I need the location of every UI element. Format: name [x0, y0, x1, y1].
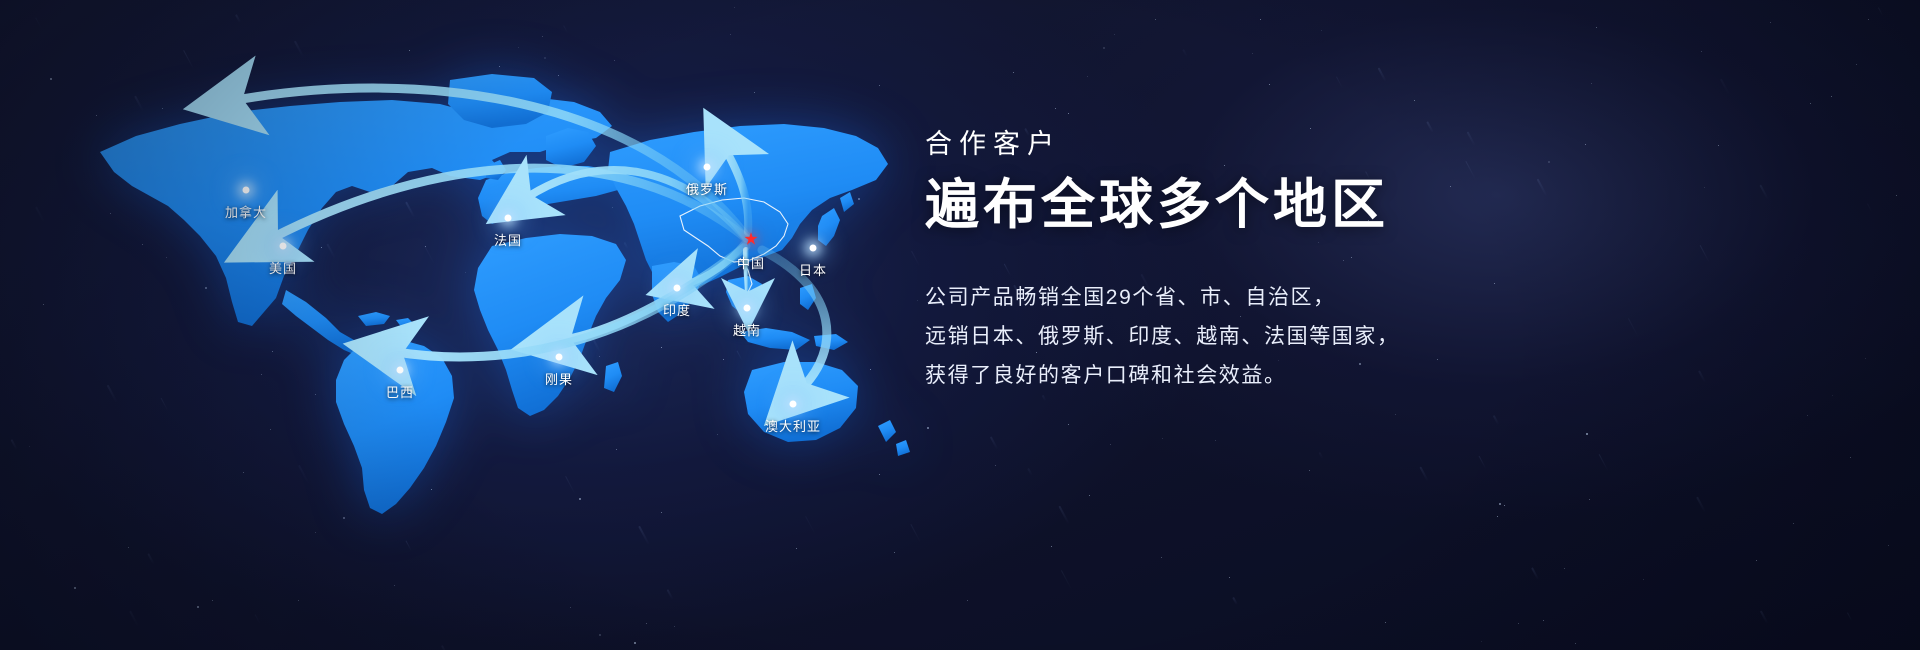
star-speck: [1087, 76, 1088, 77]
headline-text: 遍布全球多个地区: [925, 174, 1805, 236]
star-speck: [1395, 414, 1396, 415]
star-speck: [1499, 503, 1501, 505]
star-speck: [1810, 103, 1811, 104]
star-speck: [1321, 30, 1322, 31]
map-marker-label-russia: 俄罗斯: [686, 179, 728, 198]
star-streak: [1720, 79, 1730, 96]
star-speck: [1831, 96, 1832, 97]
star-speck: [1110, 444, 1111, 445]
star-speck: [1068, 113, 1069, 114]
star-speck: [1868, 19, 1869, 20]
star-speck: [734, 7, 735, 8]
star-streak: [1878, 7, 1883, 15]
star-speck: [1051, 546, 1052, 547]
star-speck: [1055, 108, 1056, 109]
star-streak: [1867, 204, 1872, 213]
star-speck: [1089, 495, 1090, 496]
star-speck: [1518, 623, 1519, 624]
star-speck: [1896, 195, 1897, 196]
marker-dot-icon: [397, 367, 404, 374]
star-speck: [1850, 457, 1851, 458]
marker-dot-icon: [810, 245, 817, 252]
map-marker-label-canada: 加拿大: [225, 202, 267, 221]
star-speck: [1586, 433, 1588, 435]
star-icon: ★: [743, 231, 758, 248]
star-speck: [1756, 560, 1757, 561]
star-streak: [235, 14, 241, 23]
star-streak: [1847, 612, 1852, 621]
star-streak: [1493, 415, 1499, 425]
map-marker-label-brazil: 巴西: [386, 382, 414, 401]
star-speck: [1103, 47, 1105, 49]
star-speck: [1155, 19, 1156, 20]
star-streak: [255, 614, 261, 623]
description-line-1: 公司产品畅销全国29个省、市、自治区，: [925, 278, 1805, 317]
star-speck: [1252, 53, 1253, 54]
star-speck: [1543, 620, 1544, 621]
map-marker-label-france: 法国: [494, 230, 522, 249]
star-streak: [1479, 455, 1487, 469]
star-speck: [1013, 72, 1014, 73]
map-marker-label-india: 印度: [663, 300, 691, 319]
map-marker-label-vietnam: 越南: [733, 320, 761, 339]
map-marker-label-australia: 澳大利亚: [765, 416, 821, 435]
star-streak: [129, 611, 139, 627]
star-speck: [29, 446, 30, 447]
marker-dot-icon: [556, 354, 563, 361]
star-speck: [1229, 577, 1230, 578]
star-speck: [542, 36, 543, 37]
star-speck: [1793, 523, 1794, 524]
star-streak: [10, 440, 17, 451]
star-speck: [1701, 51, 1702, 52]
star-streak: [563, 25, 568, 33]
world-map: 加拿大美国巴西法国刚果俄罗斯印度★中国日本越南澳大利亚: [40, 40, 940, 600]
star-streak: [1058, 505, 1069, 523]
marker-dot-icon: [243, 187, 250, 194]
star-speck: [646, 623, 647, 624]
star-speck: [1832, 395, 1833, 396]
star-speck: [1596, 27, 1597, 28]
eyebrow-text: 合作客户: [925, 128, 1805, 160]
star-speck: [1269, 84, 1270, 85]
star-speck: [1589, 499, 1590, 500]
star-speck: [1161, 557, 1162, 558]
global-clients-banner: 加拿大美国巴西法国刚果俄罗斯印度★中国日本越南澳大利亚 合作客户 遍布全球多个地…: [0, 0, 1920, 650]
description-line-2: 远销日本、俄罗斯、印度、越南、法国等国家，: [925, 317, 1805, 356]
map-marker-label-japan: 日本: [799, 260, 827, 279]
star-streak: [1697, 496, 1707, 512]
star-speck: [1260, 19, 1261, 20]
map-marker-label-china: 中国: [737, 253, 765, 272]
star-streak: [1232, 597, 1237, 605]
star-streak: [1027, 468, 1032, 476]
star-speck: [1504, 505, 1505, 506]
star-speck: [634, 642, 636, 644]
star-speck: [570, 607, 571, 608]
star-streak: [1182, 49, 1188, 57]
star-streak: [1061, 570, 1073, 590]
star-streak: [1760, 611, 1769, 624]
star-speck: [1385, 622, 1386, 623]
star-streak: [1042, 395, 1046, 401]
description-paragraph: 公司产品畅销全国29个省、市、自治区， 远销日本、俄罗斯、印度、越南、法国等国家…: [925, 278, 1805, 395]
star-speck: [967, 600, 968, 601]
star-speck: [674, 626, 675, 627]
star-speck: [599, 634, 601, 636]
star-streak: [1318, 452, 1323, 459]
star-speck: [1481, 641, 1482, 642]
star-speck: [730, 34, 731, 35]
map-marker-label-usa: 美国: [269, 258, 297, 277]
star-streak: [35, 17, 42, 28]
star-speck: [995, 465, 996, 466]
star-speck: [1114, 34, 1115, 35]
star-speck: [1865, 358, 1866, 359]
marker-dot-icon: [505, 215, 512, 222]
star-speck: [1068, 424, 1069, 425]
star-speck: [1643, 579, 1644, 580]
map-marker-label-congo: 刚果: [545, 369, 573, 388]
description-line-3: 获得了良好的客户口碑和社会效益。: [925, 356, 1805, 395]
star-speck: [1309, 470, 1310, 471]
star-streak: [441, 645, 447, 650]
marker-dot-icon: [674, 285, 681, 292]
star-speck: [197, 606, 199, 608]
marker-dot-icon: [704, 164, 711, 171]
star-streak: [1377, 67, 1386, 81]
marker-dot-icon: [280, 243, 287, 250]
star-speck: [1591, 83, 1592, 84]
marker-dot-icon: [790, 401, 797, 408]
star-speck: [1770, 22, 1771, 23]
star-speck: [1564, 568, 1565, 569]
star-streak: [989, 436, 997, 449]
trade-route-arrows-icon: [40, 40, 940, 600]
star-speck: [1497, 516, 1498, 517]
star-streak: [1531, 568, 1539, 580]
star-streak: [1419, 467, 1428, 482]
marker-dot-icon: [744, 305, 751, 312]
banner-copy: 合作客户 遍布全球多个地区 公司产品畅销全国29个省、市、自治区， 远销日本、俄…: [925, 128, 1805, 395]
star-speck: [1575, 643, 1576, 644]
star-streak: [1599, 454, 1609, 471]
star-speck: [1856, 64, 1857, 65]
star-speck: [1807, 415, 1808, 416]
star-speck: [1888, 545, 1889, 546]
star-speck: [1215, 440, 1216, 441]
star-speck: [1162, 438, 1163, 439]
star-streak: [1336, 77, 1343, 89]
star-speck: [1414, 100, 1415, 101]
